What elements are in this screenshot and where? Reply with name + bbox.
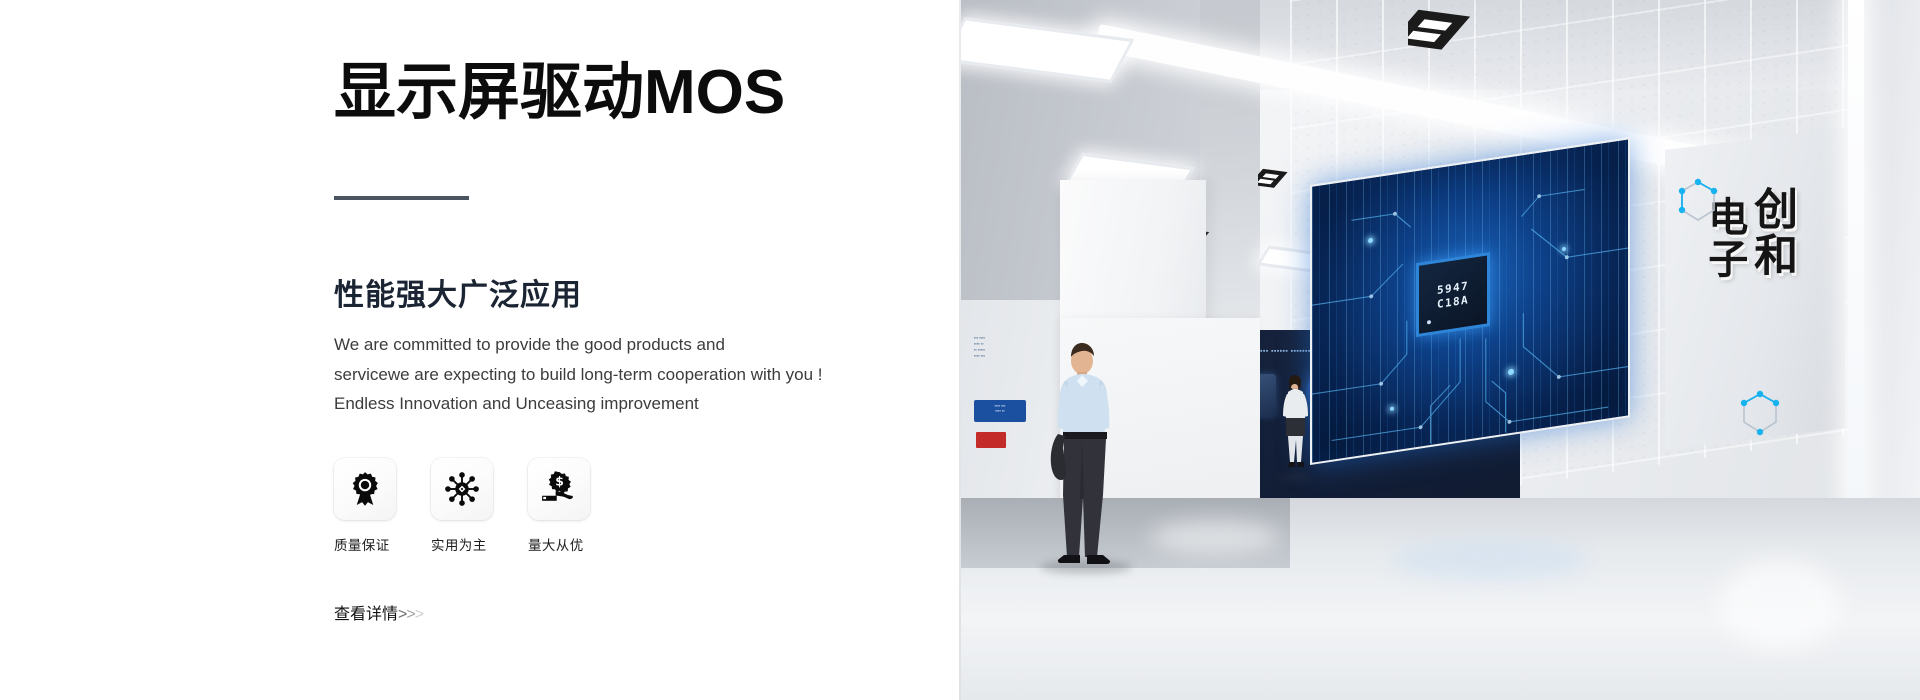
description-line-3: Endless Innovation and Unceasing improve… — [334, 389, 894, 419]
description-line-2: servicewe are expecting to build long-te… — [334, 360, 894, 390]
feature-label-bulk-discount: 量大从优 — [528, 534, 590, 554]
feature-tile-bulk-discount[interactable]: $ — [528, 458, 590, 520]
signage-text-right: 创和 — [1750, 186, 1793, 278]
showroom-interior-photo: ▪▪▪▪▪ ▪▪▪▪▪▪ ▪▪▪▪ ▪▪▪▪▪ ▪▪▪ ▪▪▪▪▪▪ ▪▪▪▪▪… — [960, 0, 1920, 700]
wall-text-lines: ▪▪▪ ▪▪▪▪▪▪▪▪ ▪▪▪▪ ▪▪▪▪▪▪▪▪▪ ▪▪▪ — [974, 332, 1018, 359]
molecule-hexagon-icon-top — [1676, 178, 1720, 233]
feature-tile-practical[interactable] — [431, 458, 493, 520]
ceiling-logo-plaque-medium — [1258, 166, 1298, 190]
floor-reflection-2 — [1720, 560, 1840, 650]
sub-title: 性能强大广泛应用 — [334, 270, 582, 314]
wall-text-block: ▪▪▪ ▪▪▪▪▪▪▪▪ ▪▪▪▪ ▪▪▪▪▪▪▪▪▪ ▪▪▪ — [974, 332, 1018, 378]
feature-item-bulk-discount[interactable]: $ 量大从优 — [528, 458, 590, 554]
page-title: 显示屏驱动MOS — [334, 60, 785, 125]
blue-wall-sign-text: ▪▪▪▪ ▪▪▪▪▪▪▪ ▪▪ — [974, 400, 1026, 413]
hand-money-icon: $ — [541, 471, 577, 507]
feature-item-quality[interactable]: 质量保证 — [334, 458, 396, 554]
molecule-hexagon-icon-bottom — [1738, 390, 1782, 447]
feature-item-practical[interactable]: 实用为主 — [431, 458, 493, 554]
chevron-right-icon: >>> — [398, 606, 423, 623]
hero-banner: 显示屏驱动MOS 性能强大广泛应用 We are committed to pr… — [0, 0, 1920, 700]
ceiling-logo-plaque-large — [1408, 4, 1492, 54]
description-paragraph: We are committed to provide the good pro… — [334, 330, 894, 419]
red-wall-sign — [976, 432, 1006, 448]
panel-photo-seam — [959, 0, 961, 700]
floor-reflection-screen — [1390, 540, 1590, 580]
description-line-1: We are committed to provide the good pro… — [334, 330, 894, 360]
text-panel-inner: 显示屏驱动MOS 性能强大广泛应用 We are committed to pr… — [334, 0, 954, 700]
floor-reflection-1 — [1150, 520, 1280, 554]
feature-label-quality: 质量保证 — [334, 534, 396, 554]
feature-tile-quality[interactable] — [334, 458, 396, 520]
view-details-label: 查看详情 — [334, 606, 398, 623]
walking-woman — [1274, 374, 1318, 483]
feature-list: 质量保证 — [334, 458, 590, 554]
network-hub-icon — [444, 471, 480, 507]
title-divider — [334, 196, 469, 200]
vertical-led-light — [1848, 0, 1864, 511]
feature-label-practical: 实用为主 — [431, 534, 493, 554]
award-ribbon-icon — [347, 471, 383, 507]
svg-text:$: $ — [555, 475, 564, 489]
exhibit-heading: ▪▪▪ ▪▪▪▪▪▪ ▪▪▪▪▪▪▪ — [1260, 348, 1311, 355]
text-panel: 显示屏驱动MOS 性能强大广泛应用 We are committed to pr… — [0, 0, 960, 700]
standing-man — [1038, 342, 1128, 577]
chip-pin-marker — [1427, 320, 1431, 325]
view-details-link[interactable]: 查看详情>>> — [334, 600, 423, 624]
chip-graphic: 5947 C18A — [1416, 252, 1490, 337]
led-video-screen: 5947 C18A — [1310, 137, 1630, 465]
blue-wall-sign: ▪▪▪▪ ▪▪▪▪▪▪▪ ▪▪ — [974, 400, 1026, 422]
